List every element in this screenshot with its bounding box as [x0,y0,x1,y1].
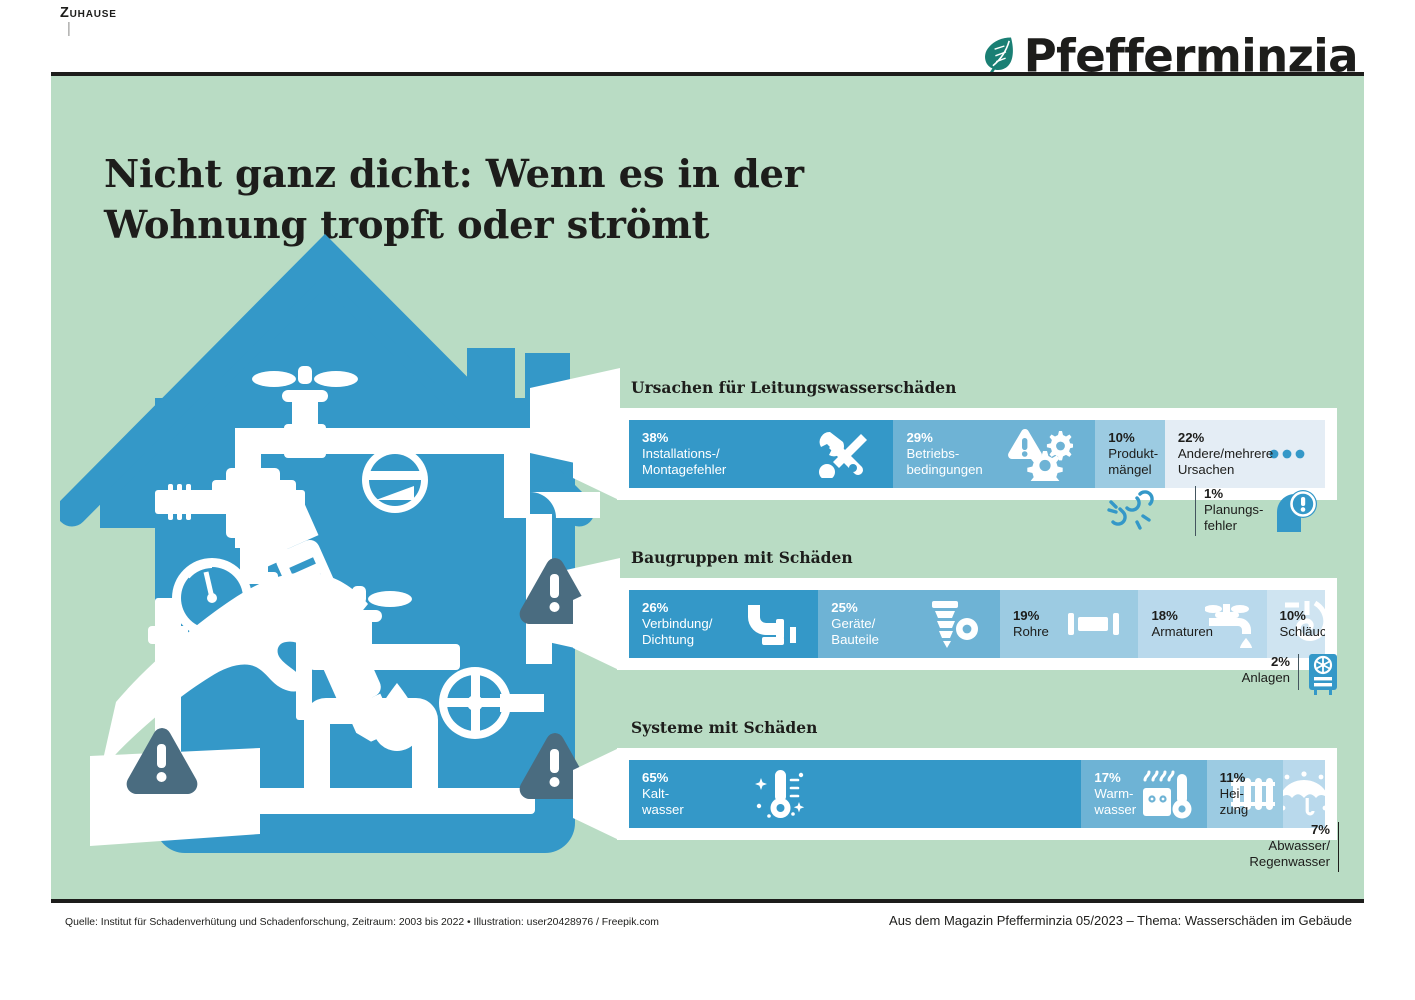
segment-pct: 25% [831,600,879,616]
segment-label: Betriebs- bedingungen [906,446,982,477]
segment-pct: 10% [1280,608,1325,624]
segment-pct: 10% [1108,430,1158,446]
source-note: Quelle: Institut für Schadenverhütung un… [65,917,659,928]
segment-pct: 65% [642,770,684,786]
pipe-section-icon [1068,611,1120,637]
segment-label: Produkt- mängel [1108,446,1158,477]
segment-pct: 26% [642,600,712,616]
stacked-bar-systems: 65%Kalt- wasser [629,760,1325,828]
bar-segment-hoses[interactable]: 10%Schläuche [1267,590,1325,658]
stacked-bar-causes: 38%Installations-/ Montagefehler [629,420,1325,488]
bar-segment-operating-conditions[interactable]: 29%Betriebs- bedingungen [893,420,1095,488]
segment-label: Rohre [1013,624,1049,639]
chart-card-components: 26%Verbindung/ Dichtung 25%Geräte/ Baute… [617,578,1337,670]
bar-segment-fittings[interactable]: 18%Armaturen [1138,590,1266,658]
segment-pct: 19% [1013,608,1049,624]
wrench-screwdriver-icon [815,430,867,478]
annotation-pct: 2% [1242,654,1290,670]
bar-segment-product-defects[interactable]: 10%Produkt- mängel [1095,420,1165,488]
segment-label: Kalt- wasser [642,786,684,817]
bar-segment-devices-parts[interactable]: 25%Geräte/ Bauteile [818,590,1000,658]
segment-label: Verbindung/ Dichtung [642,616,712,647]
warning-gears-icon [1007,427,1073,481]
bar-segment-installation-errors[interactable]: 38%Installations-/ Montagefehler [629,420,893,488]
footer-divider [51,899,1364,903]
umbrella-rain-icon [1283,770,1325,818]
annotation-planning-errors: 1%Planungs- fehler [1107,486,1319,539]
chart-group-systems: Systeme mit Schäden 65%Kalt- wasser [617,718,1337,840]
pipe-elbow-icon [744,601,796,647]
annotation-wastewater: 7%Abwasser/ Regenwasser [1249,822,1339,872]
segment-pct: 17% [1094,770,1136,786]
infographic-page: Zuhause|Wasserschäden Pfefferminzia Nich… [0,0,1415,1000]
segment-label: Installations-/ Montagefehler [642,446,726,477]
bar-segment-connection-seal[interactable]: 26%Verbindung/ Dichtung [629,590,818,658]
three-dots-icon [1269,449,1305,459]
page-header: Zuhause|Wasserschäden Pfefferminzia [0,0,1415,80]
bar-segment-other-causes[interactable]: 22%Andere/mehrere Ursachen [1165,420,1325,488]
segment-label: Armaturen [1151,624,1213,639]
bar-segment-cold-water[interactable]: 65%Kalt- wasser [629,760,1081,828]
segment-label: Geräte/ Bauteile [831,616,879,647]
chart-title-causes: Ursachen für Leitungswasserschäden [631,378,1337,397]
bar-segment-heating[interactable]: 11%Hei- zung [1207,760,1284,828]
boiler-unit-icon [1307,654,1339,701]
annotation-label: Anlagen [1242,670,1290,685]
broken-link-icon [1107,486,1161,537]
annotation-pct: 1% [1204,486,1263,502]
segment-label: Hei- zung [1220,786,1249,817]
magazine-note: Aus dem Magazin Pfefferminzia 05/2023 – … [889,913,1352,928]
segment-label: Schläuche [1280,624,1325,639]
head-exclamation-icon [1273,488,1319,539]
segment-pct: 29% [906,430,982,446]
bar-segment-hot-water[interactable]: 17%Warm- wasser [1081,760,1206,828]
cold-thermometer-icon [749,766,811,822]
breadcrumb-primary: Zuhause [60,5,117,21]
chart-group-causes: Ursachen für Leitungswasserschäden 38%In… [617,378,1337,500]
chart-title-systems: Systeme mit Schäden [631,718,1337,737]
segment-label: Warm- wasser [1094,786,1136,817]
callout-pointer [573,748,619,840]
segment-label: Andere/mehrere Ursachen [1178,446,1273,477]
hot-water-thermometer-icon [1139,766,1197,822]
segment-pct: 22% [1178,430,1273,446]
house-plumbing-illustration [60,228,620,878]
chart-title-components: Baugruppen mit Schäden [631,548,1337,567]
segment-pct: 38% [642,430,726,446]
segment-pct: 18% [1151,608,1213,624]
segment-pct: 11% [1220,770,1249,786]
annotation-pct: 7% [1249,822,1330,838]
screw-washer-icon [926,599,978,649]
callout-pointer [573,408,619,500]
bar-segment-pipes[interactable]: 19%Rohre [1000,590,1139,658]
chart-card-systems: 65%Kalt- wasser [617,748,1337,840]
stacked-bar-components: 26%Verbindung/ Dichtung 25%Geräte/ Baute… [629,590,1325,658]
annotation-label: Abwasser/ Regenwasser [1249,838,1330,869]
annotation-label: Planungs- fehler [1204,502,1263,533]
bar-segment-wastewater-rainwater[interactable] [1283,760,1325,828]
annotation-systems: 2%Anlagen [1242,654,1339,701]
callout-pointer [573,578,619,670]
chart-group-components: Baugruppen mit Schäden 26%Verbindung/ Di… [617,548,1337,670]
